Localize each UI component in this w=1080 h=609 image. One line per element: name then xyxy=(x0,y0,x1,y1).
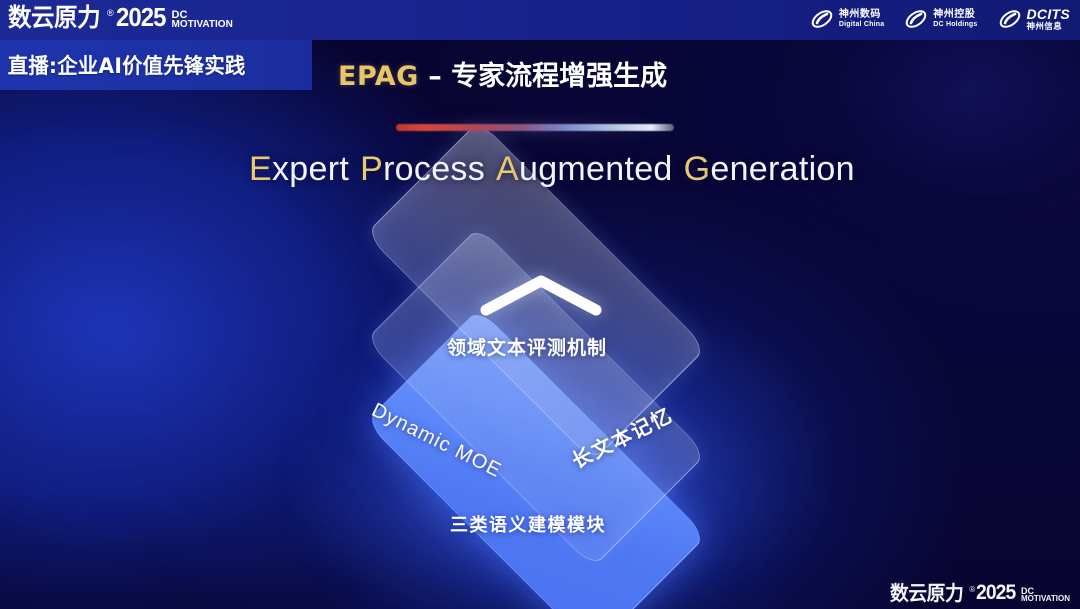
subtitle-word-augmented: Augmented xyxy=(496,150,673,188)
subtitle-expansion: ExpertProcessAugmentedGeneration xyxy=(249,150,855,189)
partner-name-cn: 神州信息 xyxy=(1027,22,1071,31)
brand-year: 2025 xyxy=(116,4,166,30)
watermark-dc-motivation: DC MOTIVATION xyxy=(1021,587,1070,602)
page-title: EPAG – 专家流程增强生成 xyxy=(338,54,667,93)
watermark-registered-mark-icon: ® xyxy=(969,585,975,594)
partner-name-cn: 神州数码 xyxy=(839,10,884,21)
title-chinese: 专家流程增强生成 xyxy=(451,61,667,92)
partner-logo-dc-holdings: 神州控股 DC Holdings xyxy=(904,7,977,31)
stack-layer-bottom-label: 三类语义建模模块 xyxy=(450,511,606,537)
stack-layer-top-label: 领域文本评测机制 xyxy=(447,333,607,360)
watermark-year: 2025 xyxy=(976,582,1015,603)
partner-name-en: DC Holdings xyxy=(933,21,977,28)
swirl-logo-icon xyxy=(810,7,834,31)
brand-name-cn: 数云原力 xyxy=(8,5,100,30)
partner-logo-dcits: DCITS 神州信息 xyxy=(998,7,1071,31)
brand-logo: 数云原力 ® 2025 DC MOTIVATION xyxy=(8,4,233,30)
subtitle-word-process: Process xyxy=(360,150,485,188)
registered-mark-icon: ® xyxy=(107,8,114,18)
gradient-divider xyxy=(396,124,674,131)
partner-name-en: Digital China xyxy=(839,21,884,28)
partner-logo-group: 神州数码 Digital China 神州控股 DC Holdings DCIT… xyxy=(810,7,1070,31)
live-stream-label: 直播:企业AI价值先锋实践 xyxy=(0,50,245,80)
swirl-logo-icon xyxy=(998,7,1022,31)
title-acronym: EPAG xyxy=(338,61,419,92)
chevron-up-icon xyxy=(478,272,604,318)
partner-name-cn: 神州控股 xyxy=(933,10,977,21)
subtitle-word-expert: Expert xyxy=(249,150,349,188)
watermark-motivation-text: MOTIVATION xyxy=(1021,595,1070,602)
brand-dc-motivation: DC MOTIVATION xyxy=(172,10,233,29)
watermark-name-cn: 数云原力 xyxy=(890,583,963,603)
subtitle-word-generation: Generation xyxy=(684,150,855,188)
slide-canvas: 数云原力 ® 2025 DC MOTIVATION 神州数码 Digital C… xyxy=(0,0,1080,609)
title-separator: – xyxy=(419,61,451,92)
live-stream-banner: 直播:企业AI价值先锋实践 xyxy=(0,40,312,90)
partner-name-en: DCITS xyxy=(1027,7,1071,22)
swirl-logo-icon xyxy=(904,7,928,31)
partner-logo-digital-china: 神州数码 Digital China xyxy=(810,7,884,31)
bottom-watermark: 数云原力 ® 2025 DC MOTIVATION xyxy=(890,582,1070,603)
brand-motivation-text: MOTIVATION xyxy=(172,20,233,29)
